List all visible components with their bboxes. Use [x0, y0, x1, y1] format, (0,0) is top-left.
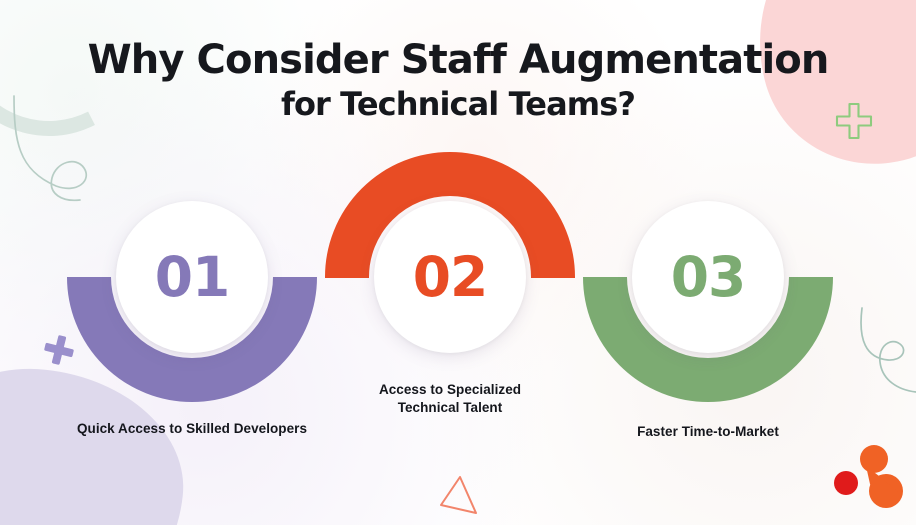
step-03-disc[interactable]: 03: [632, 201, 784, 353]
step-01-caption: Quick Access to Skilled Developers: [32, 420, 352, 438]
step-01-number: 01: [155, 250, 230, 305]
step-02-caption-line-1: Access to Specialized: [379, 382, 521, 397]
step-01-disc[interactable]: 01: [116, 201, 268, 353]
step-02-disc[interactable]: 02: [374, 201, 526, 353]
heading-line-1: Why Consider Staff Augmentation: [0, 38, 916, 83]
step-03-caption: Faster Time-to-Market: [578, 423, 838, 441]
heading-line-2: for Technical Teams?: [0, 83, 916, 125]
slide-heading: Why Consider Staff Augmentation for Tech…: [0, 38, 916, 125]
infographic-slide: Why Consider Staff Augmentation for Tech…: [0, 0, 916, 525]
step-02-number: 02: [413, 250, 488, 305]
step-02-caption: Access to Specialized Technical Talent: [310, 381, 590, 417]
step-03-number: 03: [671, 250, 746, 305]
step-02-caption-line-2: Technical Talent: [398, 400, 503, 415]
